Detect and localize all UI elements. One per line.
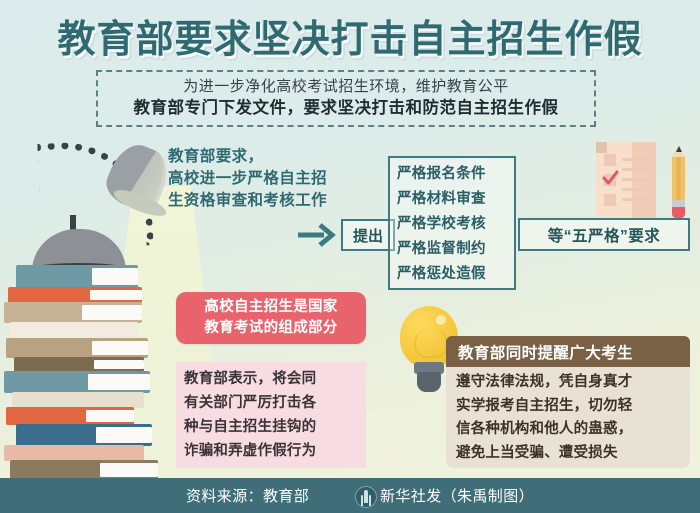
pencil-lead <box>676 146 682 152</box>
book-pages <box>92 268 138 285</box>
five-strict-list: 严格报名条件 严格材料审查 严格学校考核 严格监督制约 严格惩处造假 <box>388 156 516 290</box>
brown-body-line-2: 实学报考自主招生，切勿轻 <box>456 395 690 419</box>
subtitle-box: 为进一步净化高校考试招生环境，维护教育公平 教育部专门下发文件，要求坚决打击和防… <box>96 70 596 127</box>
xinhua-logo-icon <box>355 486 377 508</box>
requirement-line-2: 高校进一步严格自主招 <box>168 168 398 190</box>
five-strict-item: 严格学校考核 <box>397 212 514 237</box>
page-title: 教育部要求坚决打击自主招生作假 <box>0 8 700 63</box>
book-pages <box>92 341 148 355</box>
source-text: 资料来源：教育部 <box>186 485 309 506</box>
book-stack-icon <box>2 265 192 490</box>
book-item <box>14 357 144 372</box>
five-strict-requirement-box: 等“五严格”要求 <box>518 218 690 251</box>
book-pages <box>96 427 152 443</box>
book-pages <box>100 463 158 477</box>
pencil-ferrule <box>672 200 685 207</box>
pink-card-header: 高校自主招生是国家 教育考试的组成部分 <box>176 292 366 344</box>
document-line <box>622 168 646 171</box>
document-line <box>622 198 649 201</box>
brown-card-header: 教育部同时提醒广大考生 <box>446 336 690 367</box>
pink-card-body: 教育部表示，将会同 有关部门严厉打击各 种与自主招生挂钩的 诈骗和弄虚作假行为 <box>176 362 366 468</box>
document-corner-fold <box>596 142 607 153</box>
book-item <box>4 445 144 461</box>
bulb-base <box>417 372 441 392</box>
book-pages <box>86 410 134 422</box>
book-item <box>4 371 150 393</box>
check-mark-icon <box>602 170 619 187</box>
subtitle-line-1: 为进一步净化高校考试招生环境，维护教育公平 <box>183 77 509 97</box>
subtitle-line-2: 教育部专门下发文件，要求坚决打击和防范自主招生作假 <box>134 97 559 120</box>
brown-body-line-4: 避免上当受骗、遭受损失 <box>456 442 690 466</box>
document-line <box>622 178 650 181</box>
ministry-requirement-text: 教育部要求， 高校进一步严格自主招 生资格审查和考核工作 <box>168 146 398 212</box>
pink-header-line-1: 高校自主招生是国家 <box>204 297 337 318</box>
five-strict-item: 严格报名条件 <box>397 162 514 187</box>
five-strict-item: 严格材料审查 <box>397 187 514 212</box>
book-item <box>8 287 142 303</box>
pink-body-line-2: 有关部门严厉打击各 <box>184 391 366 415</box>
pencil-eraser <box>672 207 685 218</box>
book-pages <box>88 374 150 390</box>
footer-bar: 资料来源：教育部 新华社发（朱禹制图） <box>0 478 700 513</box>
book-pages <box>90 290 142 300</box>
book-item <box>4 302 142 323</box>
document-line <box>622 188 644 191</box>
infographic-poster: 教育部要求坚决打击自主招生作假 为进一步净化高校考试招生环境，维护教育公平 教育… <box>0 0 700 513</box>
brown-body-line-1: 遵守法律法规，凭自身真才 <box>456 371 690 395</box>
five-strict-item: 严格监督制约 <box>397 237 514 262</box>
book-pages <box>82 305 142 320</box>
checklist-document-icon <box>596 140 694 220</box>
book-item <box>10 460 158 480</box>
brown-body-line-3: 信各种机构和他人的蛊惑， <box>456 418 690 442</box>
book-item <box>16 265 138 288</box>
credit-text: 新华社发（朱禹制图） <box>380 485 534 506</box>
bulb-highlight <box>436 315 446 325</box>
bulb-filament <box>414 328 448 358</box>
requirement-line-1: 教育部要求， <box>168 146 398 168</box>
book-pages <box>94 360 144 369</box>
book-item <box>12 392 144 408</box>
book-item <box>6 407 134 425</box>
pink-body-line-3: 种与自主招生挂钩的 <box>184 415 366 439</box>
checkbox <box>604 154 616 166</box>
pencil-body <box>672 156 685 200</box>
requirement-line-3: 生资格审查和考核工作 <box>168 190 398 212</box>
document-line <box>622 158 650 161</box>
book-item <box>10 322 138 339</box>
brown-header-text: 教育部同时提醒广大考生 <box>458 341 633 363</box>
pink-header-line-2: 教育考试的组成部分 <box>204 318 337 339</box>
arrow-right-icon <box>296 222 336 248</box>
pink-body-line-1: 教育部表示，将会同 <box>184 367 366 391</box>
brown-card-body: 遵守法律法规，凭自身真才 实学报考自主招生，切勿轻 信各种机构和他人的蛊惑， 避… <box>446 367 690 468</box>
pencil-icon <box>672 146 685 218</box>
pink-body-line-4: 诈骗和弄虚作假行为 <box>184 439 366 463</box>
proposal-label-box: 提出 <box>341 219 395 251</box>
book-item <box>16 424 152 446</box>
checkbox <box>604 194 616 206</box>
book-item <box>6 338 148 358</box>
five-strict-item: 严格惩处造假 <box>397 262 514 287</box>
